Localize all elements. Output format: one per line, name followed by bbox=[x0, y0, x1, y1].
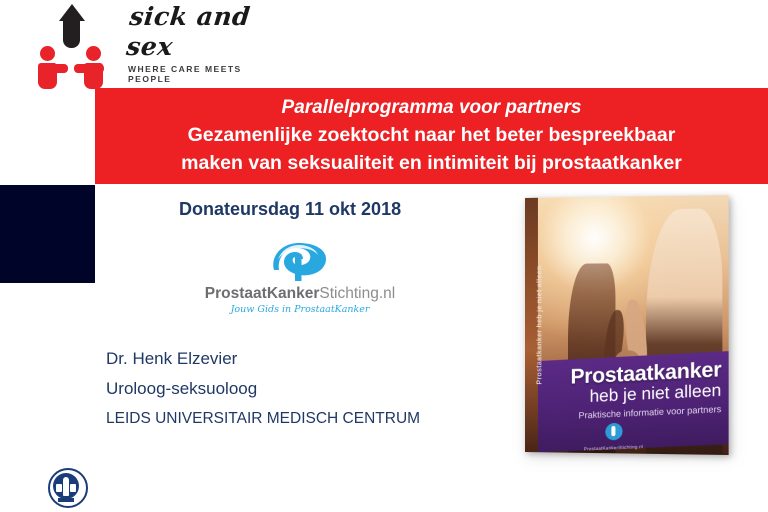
book-spine-title: Prostaatkanker heb je niet alleen bbox=[536, 195, 543, 385]
sponsor-logo: ProstaatKankerStichting.nl Jouw Gids in … bbox=[200, 240, 400, 318]
pks-p-swoosh-icon bbox=[268, 240, 330, 284]
book-title-group: Prostaatkanker heb je niet alleen Prakti… bbox=[538, 359, 729, 454]
speaker-organisation: LEIDS UNIVERSITAIR MEDISCH CENTRUM bbox=[106, 404, 420, 434]
book-spine: Prostaatkanker heb je niet alleen bbox=[525, 198, 538, 452]
pks-logo-icon bbox=[605, 423, 622, 441]
brand-wordmark: sick and sex WHERE CARE MEETS PEOPLE bbox=[128, 2, 283, 84]
brand-script-name: sick and sex bbox=[125, 2, 286, 62]
brand-tagline: WHERE CARE MEETS PEOPLE bbox=[128, 64, 283, 84]
book-cover: Prostaatkanker heb je niet alleen Prosta… bbox=[525, 195, 729, 455]
banner-line-3: maken van seksualiteit en intimiteit bij… bbox=[107, 149, 756, 177]
event-date: Donateursdag 11 okt 2018 bbox=[179, 199, 401, 220]
speaker-role: Uroloog-seksuoloog bbox=[106, 374, 420, 404]
sponsor-name-bold: ProstaatKanker bbox=[205, 285, 320, 302]
leiden-university-seal-icon bbox=[48, 468, 88, 508]
sponsor-tagline: Jouw Gids in ProstaatKanker bbox=[200, 304, 400, 315]
banner-line-2: Gezamenlijke zoektocht naar het beter be… bbox=[107, 121, 756, 149]
sponsor-name: ProstaatKankerStichting.nl bbox=[200, 285, 400, 303]
sponsor-name-light: Stichting.nl bbox=[319, 285, 395, 302]
navy-decor-block bbox=[0, 185, 95, 283]
banner-line-1: Parallelprogramma voor partners bbox=[107, 94, 756, 121]
three-people-group-icon bbox=[38, 4, 122, 48]
brand-logo: sick and sex WHERE CARE MEETS PEOPLE bbox=[30, 2, 280, 50]
title-banner: Parallelprogramma voor partners Gezamenl… bbox=[95, 88, 768, 184]
presentation-slide: sick and sex WHERE CARE MEETS PEOPLE Par… bbox=[0, 0, 768, 512]
book-mockup: Prostaatkanker heb je niet alleen Prosta… bbox=[498, 190, 738, 462]
speaker-block: Dr. Henk Elzevier Uroloog-seksuoloog LEI… bbox=[106, 344, 420, 434]
speaker-name: Dr. Henk Elzevier bbox=[106, 344, 420, 374]
